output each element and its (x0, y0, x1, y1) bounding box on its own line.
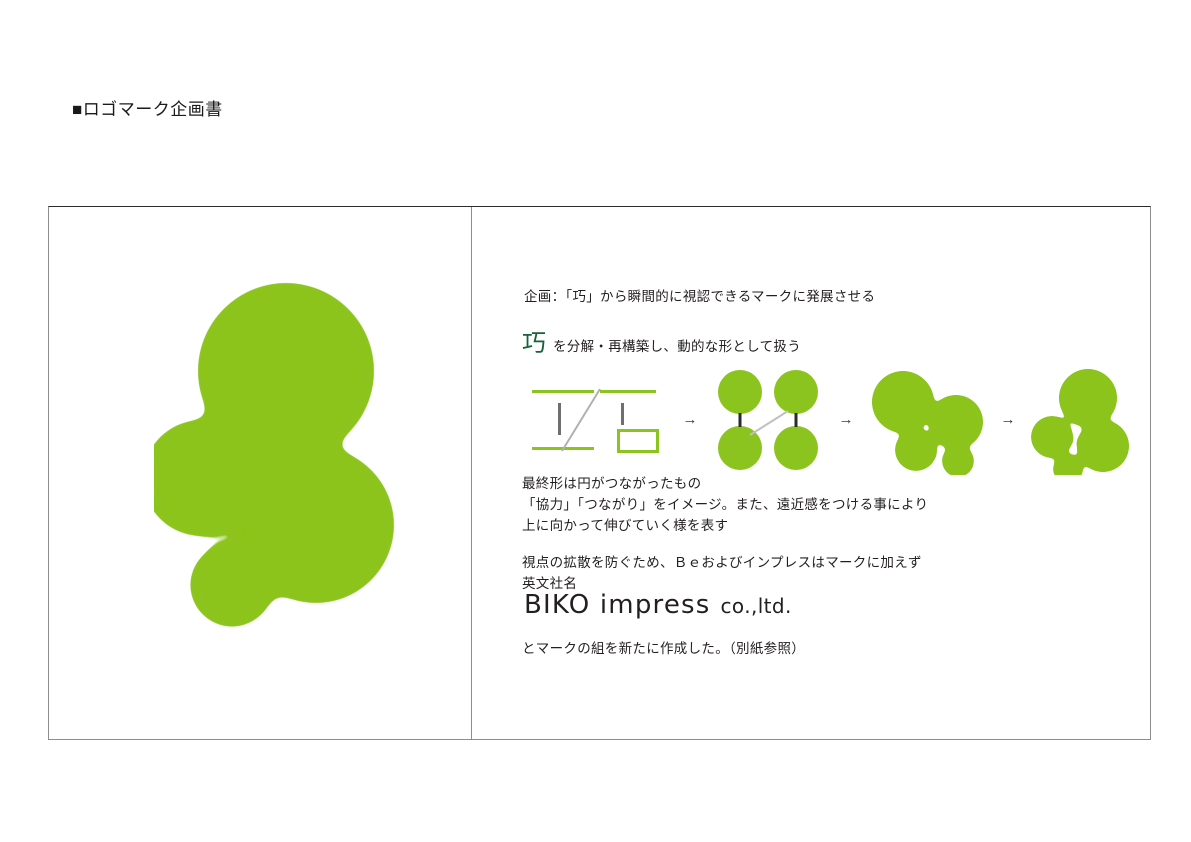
final-shape-line-3: 上に向かって伸びていく様を表す (522, 515, 928, 536)
presentation-board: 企画：「巧」から瞬間的に視認できるマークに発展させる 巧 を分解・再構築し、動的… (48, 206, 1151, 740)
stage2-circle-top-right (774, 370, 818, 414)
evolution-stage-3-artwork (868, 365, 986, 475)
stroke-hook-left (617, 429, 620, 453)
english-company-name: BIKO impressco.,ltd. (524, 590, 792, 621)
deconstruct-statement: 巧 を分解・再構築し、動的な形として扱う (522, 331, 801, 357)
right-panel-explanation: 企画：「巧」から瞬間的に視認できるマークに発展させる 巧 を分解・再構築し、動的… (472, 207, 1152, 741)
stage4-circle-top-large (1059, 369, 1117, 427)
stroke-vertical-left-tick (558, 403, 561, 435)
logo-mark-hero-circles (154, 283, 394, 627)
stage2-circle-bottom-right (774, 426, 818, 470)
english-company-name-suffix: co.,ltd. (721, 594, 792, 618)
final-shape-line-2: 「協力」「つながり」をイメージ。また、遠近感をつける事により (522, 494, 928, 515)
evolution-stage-2-artwork (712, 365, 824, 475)
evolution-stage-4 (1030, 365, 1148, 475)
stage3-circle-bottom-left (895, 429, 937, 471)
stroke-hook-right (656, 429, 659, 453)
closing-line: とマークの組を新たに作成した。（別紙参照） (522, 638, 805, 659)
logo-circle-bottom-small (190, 543, 274, 627)
stage3-circle-right (929, 395, 983, 449)
stroke-top-left-bar (532, 390, 594, 393)
evolution-stage-1 (520, 365, 668, 475)
final-shape-line-1: 最終形は円がつながったもの (522, 473, 928, 494)
evolution-stage-4-artwork (1030, 365, 1148, 475)
left-panel-artwork (49, 207, 471, 741)
stroke-hook-top (617, 429, 659, 432)
stroke-vertical-right-tick (621, 403, 624, 425)
final-shape-paragraph: 最終形は円がつながったもの 「協力」「つながり」をイメージ。また、遠近感をつける… (522, 473, 928, 536)
kanji-seed-glyph: 巧 (522, 331, 546, 355)
stroke-top-right-bar (600, 390, 656, 393)
evolution-arrow-3: → (986, 365, 1030, 475)
logo-mark-hero (154, 265, 414, 645)
evolution-stage-3 (868, 365, 986, 475)
stage3-circle-top-left (872, 371, 934, 433)
evolution-stage-2 (712, 365, 824, 475)
stroke-hook-bottom (617, 450, 659, 453)
deconstruct-statement-text: を分解・再構築し、動的な形として扱う (553, 336, 801, 357)
no-extra-elements-paragraph: 視点の拡散を防ぐため、Ｂｅおよびインプレスはマークに加えず 英文社名 (522, 552, 922, 594)
page-title: ■ロゴマーク企画書 (72, 95, 223, 120)
evolution-stage-1-artwork (520, 365, 668, 475)
evolution-arrow-2: → (824, 365, 868, 475)
stage4-circle-right-large (1077, 420, 1129, 472)
stage3-circle-bottom-right (942, 445, 974, 475)
english-company-name-main: BIKO impress (524, 590, 711, 620)
stage4-circle-left-medium (1031, 416, 1073, 458)
evolution-arrow-1: → (668, 365, 712, 475)
no-extra-line-1: 視点の拡散を防ぐため、Ｂｅおよびインプレスはマークに加えず (522, 552, 922, 573)
stroke-diagonal (562, 389, 600, 451)
stage2-connector-left (739, 413, 742, 427)
concept-intent-line: 企画：「巧」から瞬間的に視認できるマークに発展させる (524, 286, 875, 307)
evolution-diagram: → → (520, 365, 1160, 475)
stage2-circle-top-left (718, 370, 762, 414)
stage2-connector-right (795, 413, 798, 427)
